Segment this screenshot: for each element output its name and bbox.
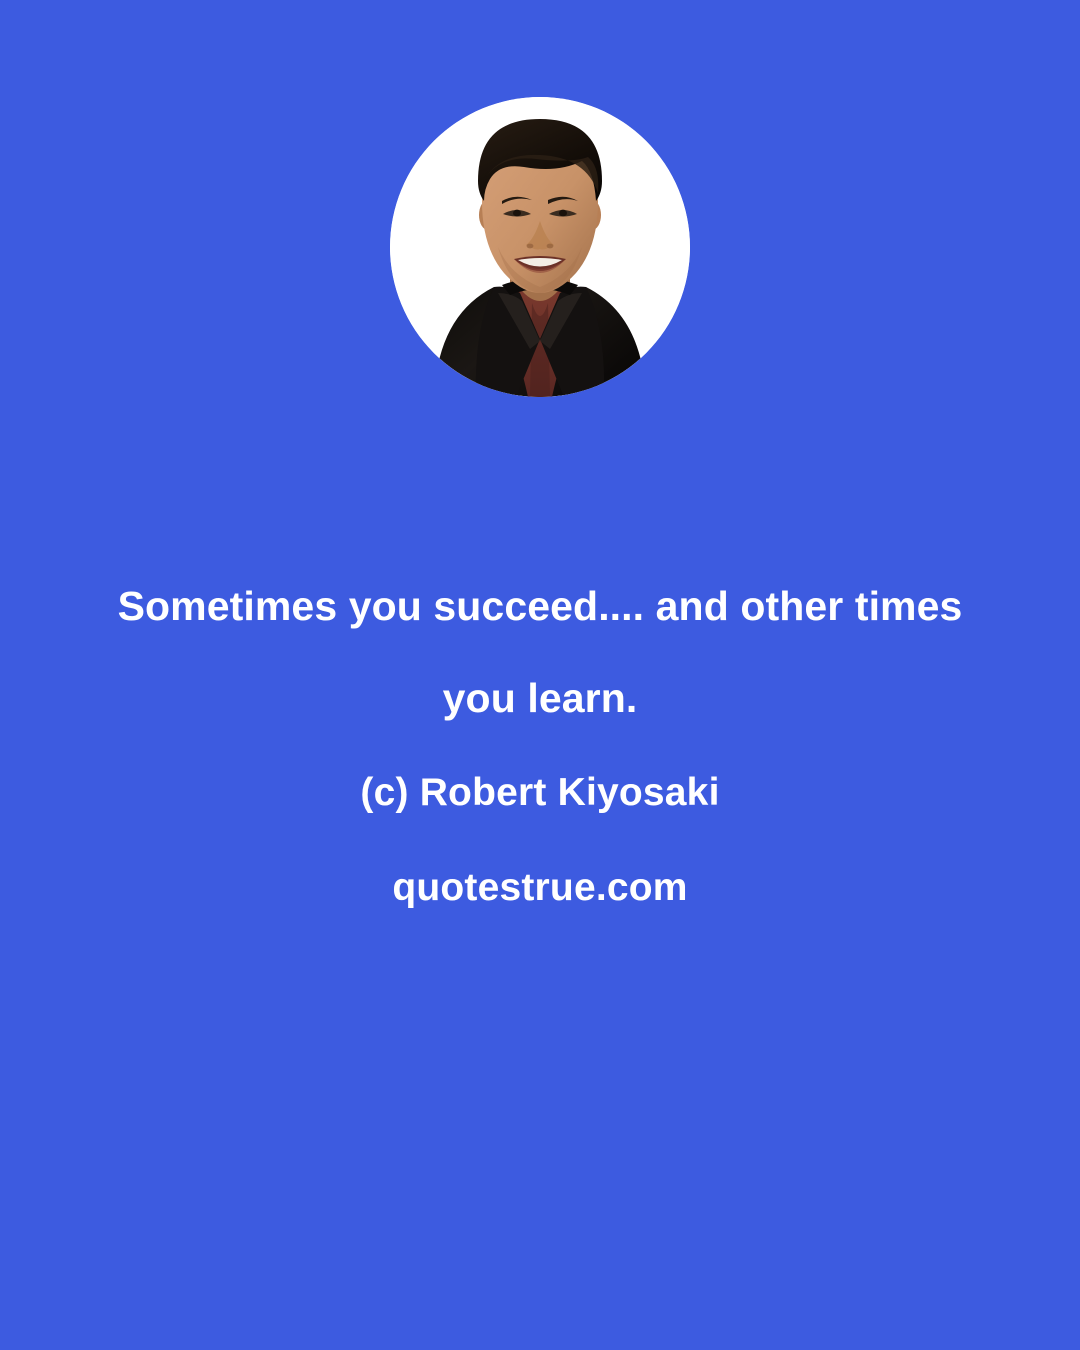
- quote-card: Sometimes you succeed.... and other time…: [0, 0, 1080, 1350]
- quote-text-block: Sometimes you succeed.... and other time…: [0, 560, 1080, 919]
- quote-attribution: (c) Robert Kiyosaki: [0, 744, 1080, 824]
- portrait-illustration: [390, 97, 690, 397]
- website-credit: quotestrue.com: [0, 824, 1080, 919]
- portrait-avatar: [390, 97, 690, 397]
- quote-text: Sometimes you succeed.... and other time…: [100, 560, 980, 744]
